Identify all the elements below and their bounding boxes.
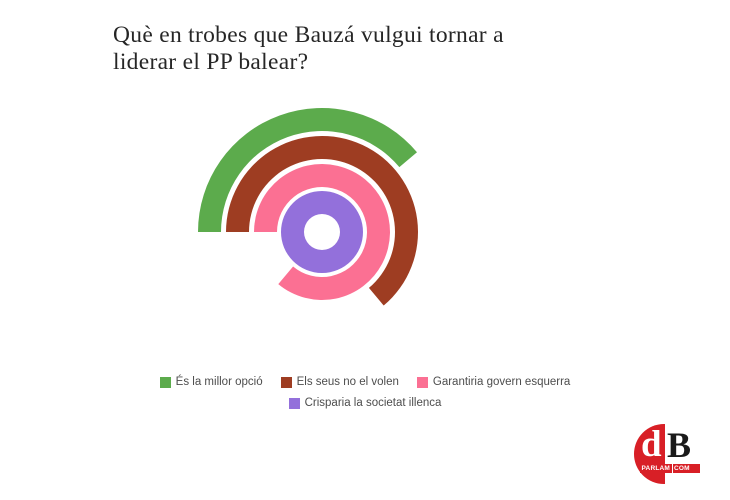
page-title-line-2: liderar el PP balear? <box>113 49 673 76</box>
logo-letter-d: d <box>641 426 662 463</box>
page-title: Què en trobes que Bauzá vulgui tornar a … <box>113 22 673 76</box>
page-title-line-1: Què en trobes que Bauzá vulgui tornar a <box>113 22 673 49</box>
legend-item-garantiria-govern-esquerra[interactable]: Garantiria govern esquerra <box>417 374 570 390</box>
legend-item-es-la-millor-opcio[interactable]: És la millor opció <box>160 374 263 390</box>
logo-tagline-right: COM TU <box>673 464 700 473</box>
chart-legend: És la millor opció Els seus no el volen … <box>0 374 730 411</box>
legend-item-els-seus-no-el-volen[interactable]: Els seus no el volen <box>281 374 399 390</box>
logo-tagline-left: PARLAM <box>640 464 672 473</box>
legend-swatch-brown <box>281 377 292 388</box>
legend-label-crisparia-la-societat-illenca: Crisparia la societat illenca <box>305 395 442 411</box>
arc-group: És la millor opcióEls seus no el volenGa… <box>198 108 418 306</box>
legend-label-es-la-millor-opcio: És la millor opció <box>176 374 263 390</box>
radial-bar-chart-svg: És la millor opcióEls seus no el volenGa… <box>185 95 545 325</box>
legend-swatch-purple <box>289 398 300 409</box>
arc-segment-4[interactable]: Crisparia la societat illenca <box>281 191 363 273</box>
legend-swatch-pink <box>417 377 428 388</box>
legend-row-1: És la millor opció Els seus no el volen … <box>0 374 730 390</box>
arc-segment-3[interactable]: Garantiria govern esquerra <box>254 164 390 300</box>
legend-row-2: Crisparia la societat illenca <box>0 395 730 411</box>
legend-label-els-seus-no-el-volen: Els seus no el volen <box>297 374 399 390</box>
dbalears-logo[interactable]: d B PARLAM COM TU <box>634 424 700 490</box>
radial-bar-chart: És la millor opcióEls seus no el volenGa… <box>0 95 730 325</box>
logo-letter-b: B <box>667 427 691 463</box>
legend-swatch-green <box>160 377 171 388</box>
logo-tagline: PARLAM COM TU <box>640 464 700 473</box>
legend-label-garantiria-govern-esquerra: Garantiria govern esquerra <box>433 374 570 390</box>
legend-item-crisparia-la-societat-illenca[interactable]: Crisparia la societat illenca <box>289 395 442 411</box>
page-title-line-1-text: Què en trobes que Bauzá vulgui tornar a <box>113 22 673 49</box>
